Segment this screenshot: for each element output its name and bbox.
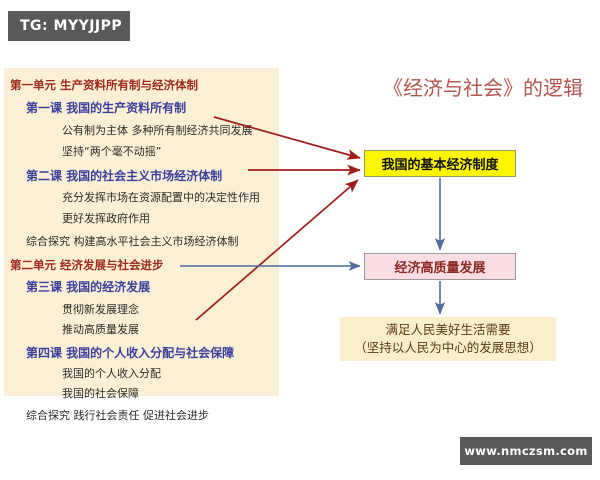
outline-row-7: 更好发挥政府作用 [62, 213, 150, 224]
outline-row-11: 贯彻新发展理念 [62, 304, 139, 315]
outline-row-5: 第二课 我国的社会主义市场经济体制 [26, 170, 222, 182]
outline-list: 第一单元 生产资料所有制与经济体制第一课 我国的生产资料所有制公有制为主体 多种… [4, 68, 279, 396]
node-people-better-life-line2: （坚持以人民为中心的发展思想） [354, 339, 542, 357]
outline-row-16: 综合探究 践行社会责任 促进社会进步 [26, 410, 209, 421]
tg-handle-badge: TG: MYYJJPP [8, 11, 130, 41]
outline-row-13: 第四课 我国的个人收入分配与社会保障 [26, 347, 234, 359]
outline-row-1: 第一单元 生产资料所有制与经济体制 [10, 80, 198, 92]
site-watermark-label: www.nmczsm.com [464, 444, 587, 458]
slide-canvas: TG: MYYJJPP 第一单元 生产资料所有制与经济体制第一课 我国的生产资料… [0, 0, 600, 480]
outline-row-4: 坚持“两个毫不动摇” [62, 146, 161, 157]
site-watermark: www.nmczsm.com [460, 437, 592, 465]
outline-row-8: 综合探究 构建高水平社会主义市场经济体制 [26, 236, 239, 247]
outline-row-3: 公有制为主体 多种所有制经济共同发展 [62, 125, 253, 136]
outline-row-10: 第三课 我国的经济发展 [26, 281, 150, 293]
node-people-better-life[interactable]: 满足人民美好生活需要 （坚持以人民为中心的发展思想） [340, 317, 556, 361]
textbook-outline-panel: 第一单元 生产资料所有制与经济体制第一课 我国的生产资料所有制公有制为主体 多种… [4, 68, 279, 396]
outline-row-9: 第二单元 经济发展与社会进步 [10, 260, 164, 272]
node-basic-economic-system[interactable]: 我国的基本经济制度 [364, 150, 516, 177]
node-high-quality-development[interactable]: 经济高质量发展 [364, 253, 516, 280]
outline-row-14: 我国的个人收入分配 [62, 368, 161, 379]
node-basic-economic-system-label: 我国的基本经济制度 [381, 154, 498, 173]
outline-row-6: 充分发挥市场在资源配置中的决定性作用 [62, 192, 260, 203]
outline-row-2: 第一课 我国的生产资料所有制 [26, 102, 186, 114]
page-title: 《经济与社会》的逻辑 [383, 72, 583, 101]
outline-row-12: 推动高质量发展 [62, 324, 139, 335]
outline-row-15: 我国的社会保障 [62, 388, 139, 399]
node-high-quality-development-label: 经济高质量发展 [394, 257, 485, 276]
node-people-better-life-line1: 满足人民美好生活需要 [385, 321, 510, 339]
tg-handle-label: TG: MYYJJPP [20, 18, 122, 34]
